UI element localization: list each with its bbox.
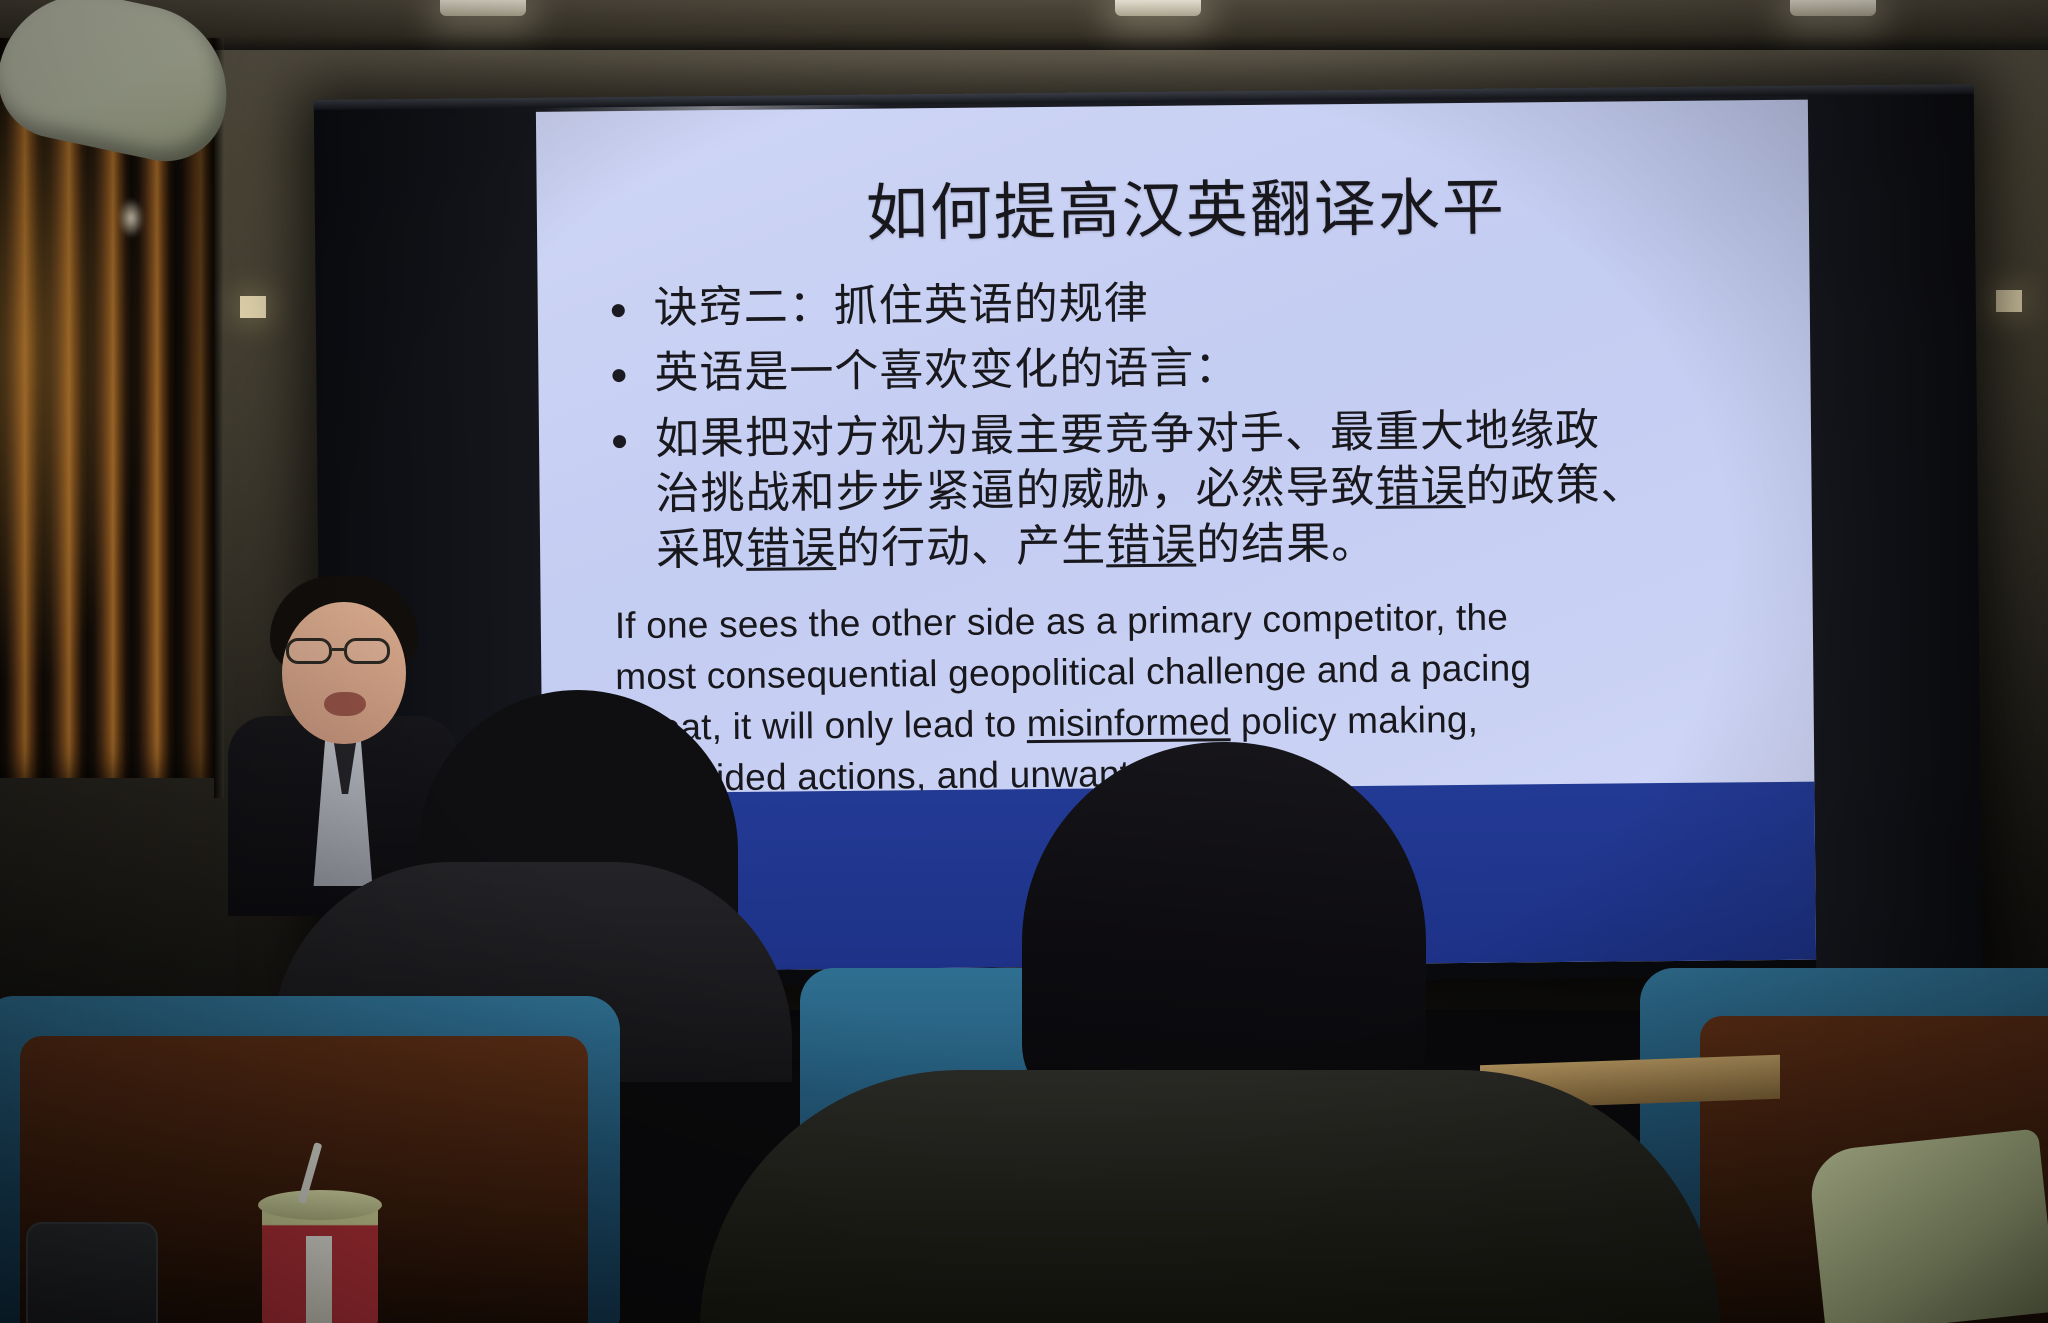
ceiling-light-3 — [1790, 0, 1876, 16]
english-line-1: If one sees the other side as a primary … — [615, 597, 1509, 647]
attendee-center-shoulders — [700, 1070, 1720, 1323]
bullet-3-line-1: 如果把对方视为最主要竞争对手、最重大地缘政 — [655, 406, 1600, 464]
eyeglasses-bridge-icon — [332, 648, 344, 651]
ceiling-light-2 — [1115, 0, 1201, 16]
instant-noodle-lid — [258, 1190, 382, 1220]
bullet-3-underline-1: 错误 — [1375, 462, 1465, 512]
smartphone[interactable] — [26, 1222, 158, 1323]
english-line-2: most consequential geopolitical challeng… — [615, 648, 1531, 698]
led-cluster-right-icon — [1996, 290, 2022, 312]
bullet-3-line-3c: 的结果。 — [1196, 519, 1376, 570]
slide-content: 如何提高汉英翻译水平 诀窍二：抓住英语的规律 英语是一个喜欢变化的语言： 如果把… — [536, 100, 1815, 806]
instant-noodle-label — [306, 1236, 332, 1323]
slide-bullet-list: 诀窍二：抓住英语的规律 英语是一个喜欢变化的语言： 如果把对方视为最主要竞争对手… — [596, 270, 1787, 579]
presenter-mouth — [324, 692, 366, 716]
bullet-3-underline-2: 错误 — [746, 524, 836, 574]
eyeglasses-left-lens-icon — [286, 638, 332, 664]
bullet-text-2: 英语是一个喜欢变化的语言： — [654, 344, 1239, 399]
lecture-hall-scene: 如何提高汉英翻译水平 诀窍二：抓住英语的规律 英语是一个喜欢变化的语言： 如果把… — [0, 0, 2048, 1323]
english-line-3b: policy making, — [1230, 699, 1478, 742]
english-underline-misinformed: misinformed — [1027, 701, 1231, 744]
bullet-3-line-2b: 的政策、 — [1465, 461, 1645, 512]
attendee-center-head — [1022, 742, 1426, 1114]
bullet-item-2: 英语是一个喜欢变化的语言： — [596, 335, 1784, 402]
bullet-3-line-3a: 采取 — [656, 525, 746, 575]
green-cloth-bag — [1807, 1128, 2048, 1323]
ceiling-light-1 — [440, 0, 526, 16]
bullet-3-line-3b: 的行动、产生 — [836, 521, 1106, 573]
presenter-face — [282, 602, 406, 744]
ceiling — [0, 0, 2048, 50]
eyeglasses-right-lens-icon — [344, 638, 390, 664]
bullet-3-line-2a: 治挑战和步步紧逼的威胁，必然导致 — [655, 463, 1375, 519]
screen-bezel-right — [1808, 94, 1982, 976]
bullet-item-3: 如果把对方视为最主要竞争对手、最重大地缘政 治挑战和步步紧逼的威胁，必然导致错误… — [597, 401, 1787, 579]
led-cluster-left-icon — [240, 296, 266, 318]
wall-specular-highlight — [118, 198, 144, 238]
bullet-item-1: 诀窍二：抓住英语的规律 — [596, 270, 1784, 337]
bullet-text-1: 诀窍二：抓住英语的规律 — [654, 279, 1149, 333]
slide-title: 如何提高汉英翻译水平 — [588, 154, 1783, 255]
bullet-3-underline-3: 错误 — [1106, 520, 1196, 570]
